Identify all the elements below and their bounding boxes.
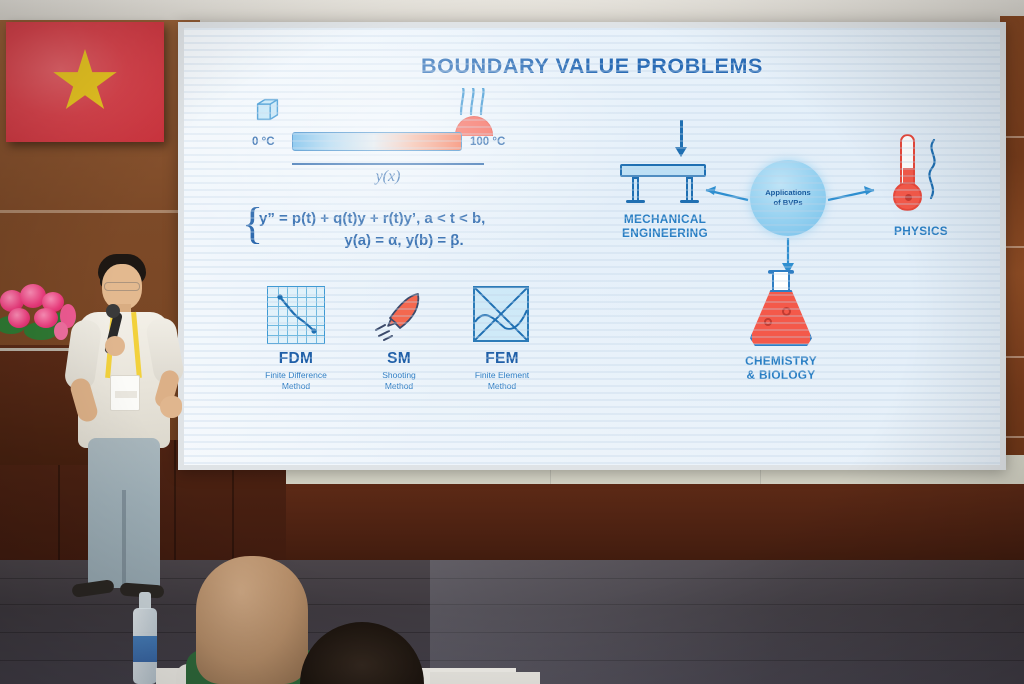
heat-bar-diagram: 0 °C 100 °C y(x) xyxy=(254,88,564,218)
hub-label: Applications of BVPs xyxy=(750,160,826,236)
grid-curve-icon xyxy=(267,286,325,344)
audience-table-right xyxy=(430,672,540,684)
beam-load-icon xyxy=(620,154,706,202)
thermometer-icon xyxy=(890,134,936,222)
method-abbr: FEM xyxy=(452,350,552,368)
app-label-line1: PHYSICS xyxy=(894,224,948,238)
method-name-line2: Method xyxy=(282,381,310,391)
conference-room-scene: BOUNDARY VALUE PROBLEMS 0 °C 100 °C y(x) xyxy=(0,0,1024,684)
hub-label-line1: Applications xyxy=(765,188,811,198)
slide-title: BOUNDARY VALUE PROBLEMS xyxy=(184,54,1000,79)
hub-label-line2: of BVPs xyxy=(773,198,802,208)
mesh-square-icon xyxy=(473,286,531,344)
presenter-hand-left xyxy=(105,336,125,356)
app-label-line2: ENGINEERING xyxy=(622,226,708,240)
underline-rule xyxy=(292,163,484,165)
presenter-hand-right xyxy=(160,396,182,418)
method-full-name: Shooting Method xyxy=(349,370,449,392)
heat-dome-icon xyxy=(447,88,499,136)
method-name-line2: Method xyxy=(488,381,516,391)
load-arrow-icon xyxy=(680,120,683,150)
vietnam-flag xyxy=(6,22,164,142)
audience-member-front xyxy=(196,556,308,684)
temperature-gradient-bar xyxy=(292,132,462,151)
thermometer-bulb xyxy=(893,182,922,211)
ice-cube-icon xyxy=(254,96,281,123)
method-name-line2: Method xyxy=(385,381,413,391)
label-mechanical-engineering: MECHANICAL ENGINEERING xyxy=(594,212,736,240)
applications-hub-circle: Applications of BVPs xyxy=(750,160,826,236)
floor-reflection xyxy=(430,560,1024,684)
method-fdm: FDM Finite Difference Method xyxy=(246,286,346,392)
bottle-label xyxy=(133,636,157,662)
app-label-line1: MECHANICAL xyxy=(624,212,706,226)
bottle-cap xyxy=(139,592,151,609)
projection-screen: BOUNDARY VALUE PROBLEMS 0 °C 100 °C y(x) xyxy=(184,28,1000,465)
hot-temperature-label: 100 °C xyxy=(470,136,505,148)
flask-icon xyxy=(744,272,818,350)
flag-star-icon xyxy=(52,49,118,115)
water-bottle xyxy=(133,592,157,684)
method-name-line1: Finite Difference xyxy=(265,370,327,380)
rocket-icon xyxy=(370,286,428,344)
method-name-line1: Finite Element xyxy=(475,370,529,380)
beam-foot-left xyxy=(626,200,645,203)
presenter xyxy=(62,250,192,630)
method-abbr: SM xyxy=(349,350,449,368)
equation-line-2: y(a) = α, y(b) = β. xyxy=(259,232,549,249)
cold-temperature-label: 0 °C xyxy=(252,136,275,148)
beam-top xyxy=(620,164,706,177)
method-full-name: Finite Element Method xyxy=(452,370,552,392)
equation-line-1: y” = p(t) + q(t)y + r(t)y’, a < t < b, xyxy=(259,210,485,227)
app-label-line1: CHEMISTRY xyxy=(745,354,817,368)
method-abbr: FDM xyxy=(246,350,346,368)
function-label: y(x) xyxy=(292,168,484,186)
presenter-pants xyxy=(88,438,160,588)
flask-bubble xyxy=(764,318,772,326)
beam-leg-left xyxy=(632,177,639,202)
beam-foot-right xyxy=(680,200,699,203)
presenter-sandal-left xyxy=(71,579,114,598)
method-fem: FEM Finite Element Method xyxy=(452,286,552,392)
method-name-line1: Shooting xyxy=(382,370,416,380)
flask-body xyxy=(750,290,812,346)
beam-leg-right xyxy=(686,177,693,202)
flask-bubble xyxy=(782,307,791,316)
microphone-head xyxy=(106,304,120,318)
heat-wave-icon xyxy=(922,138,944,200)
presenter-name-badge xyxy=(110,375,140,411)
solution-methods-group: FDM Finite Difference Method SM xyxy=(246,286,556,426)
applications-diagram: MECHANICAL ENGINEERING Applications of B… xyxy=(594,116,994,406)
flask-neck xyxy=(772,272,790,292)
app-label-line2: & BIOLOGY xyxy=(747,368,816,382)
label-chemistry-biology: CHEMISTRY & BIOLOGY xyxy=(716,354,846,382)
presenter-glasses xyxy=(104,282,140,291)
method-sm: SM Shooting Method xyxy=(349,286,449,392)
method-full-name: Finite Difference Method xyxy=(246,370,346,392)
label-physics: PHYSICS xyxy=(866,224,976,238)
